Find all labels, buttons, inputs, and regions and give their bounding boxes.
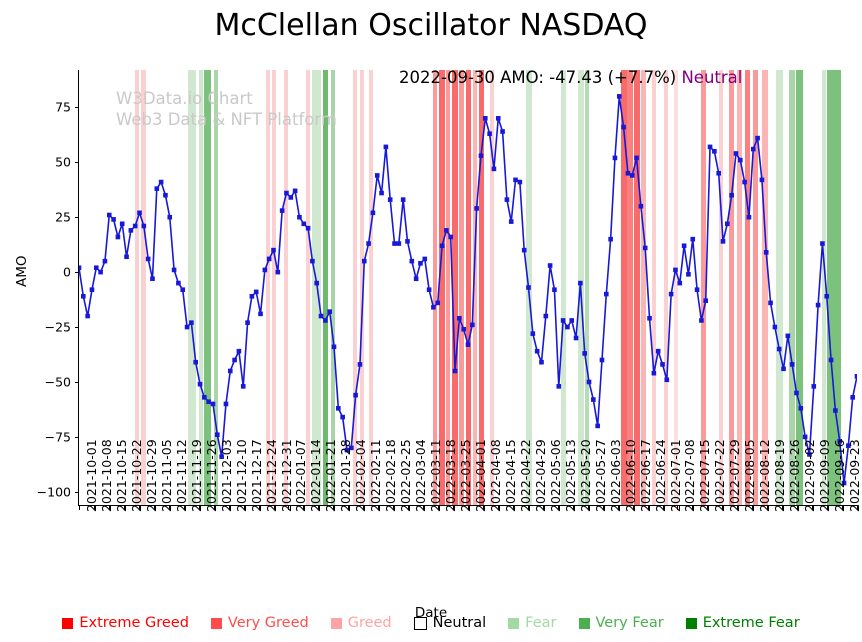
x-tick-label: 2022-04-01 <box>473 439 488 512</box>
amo-data-point <box>725 221 730 226</box>
amo-data-point <box>422 257 427 262</box>
x-tick-mark <box>513 505 514 510</box>
amo-data-point <box>410 259 415 264</box>
amo-data-point <box>695 287 700 292</box>
amo-data-point <box>652 371 657 376</box>
amo-data-point <box>574 336 579 341</box>
amo-data-point <box>699 318 704 323</box>
amo-data-point <box>595 424 600 429</box>
amo-data-point <box>492 167 497 172</box>
amo-data-point <box>263 268 268 273</box>
amo-data-point <box>336 406 341 411</box>
amo-data-point <box>172 268 177 273</box>
amo-data-point <box>479 153 484 158</box>
amo-data-point <box>561 318 566 323</box>
amo-data-point <box>634 156 639 161</box>
x-tick-label: 2022-03-11 <box>428 439 443 512</box>
x-tick-mark <box>393 505 394 510</box>
x-tick-mark <box>827 505 828 510</box>
amo-data-point <box>781 366 786 371</box>
x-tick-mark <box>543 505 544 510</box>
amo-data-point <box>142 224 147 229</box>
chart-container: McClellan Oscillator NASDAQ AMO W3Data.i… <box>0 0 862 642</box>
x-tick-label: 2022-02-25 <box>398 439 413 512</box>
amo-data-point <box>427 287 432 292</box>
x-tick-mark <box>752 505 753 510</box>
amo-data-point <box>224 402 229 407</box>
x-tick-label: 2022-04-29 <box>533 439 548 512</box>
amo-data-point <box>375 173 380 178</box>
x-tick-label: 2022-04-15 <box>503 439 518 512</box>
amo-data-point <box>107 213 112 218</box>
annotation-text: 2022-09-30 AMO: -47.43 (+7.7%) <box>399 68 676 87</box>
x-tick-label: 2022-09-16 <box>832 439 847 512</box>
x-tick-mark <box>229 505 230 510</box>
x-tick-mark <box>468 505 469 510</box>
x-tick-mark <box>274 505 275 510</box>
x-tick-label: 2021-10-22 <box>129 439 144 512</box>
amo-data-point <box>483 116 488 121</box>
amo-data-point <box>163 193 168 198</box>
amo-data-point <box>297 215 302 220</box>
x-tick-mark <box>139 505 140 510</box>
amo-data-point <box>206 399 211 404</box>
amo-data-point <box>85 314 90 319</box>
x-tick-label: 2021-10-01 <box>84 439 99 512</box>
legend-swatch <box>62 618 73 629</box>
x-tick-mark <box>663 505 664 510</box>
legend-label: Greed <box>348 616 392 631</box>
amo-data-point <box>327 309 332 314</box>
chart-title: McClellan Oscillator NASDAQ <box>0 8 862 43</box>
amo-data-point <box>833 408 838 413</box>
amo-data-point <box>189 320 194 325</box>
amo-data-point <box>613 156 618 161</box>
y-tick-mark <box>75 382 80 383</box>
x-tick-label: 2022-08-05 <box>742 439 757 512</box>
amo-data-point <box>198 382 203 387</box>
amo-data-point <box>401 197 406 202</box>
x-tick-label: 2022-04-08 <box>488 439 503 512</box>
x-tick-label: 2021-10-15 <box>114 439 129 512</box>
x-tick-mark <box>438 505 439 510</box>
amo-data-point <box>366 241 371 246</box>
amo-data-point <box>457 316 462 321</box>
amo-data-point <box>94 265 99 270</box>
x-tick-label: 2022-07-08 <box>682 439 697 512</box>
amo-data-point <box>764 250 769 255</box>
amo-data-point <box>665 377 670 382</box>
amo-data-point <box>677 281 682 286</box>
x-tick-mark <box>184 505 185 510</box>
x-tick-mark <box>408 505 409 510</box>
amo-data-point <box>435 301 440 306</box>
amo-data-point <box>824 294 829 299</box>
amo-data-point <box>518 180 523 185</box>
x-tick-mark <box>318 505 319 510</box>
legend-item[interactable]: Extreme Fear <box>686 616 800 631</box>
y-tick-mark <box>75 272 80 273</box>
amo-data-point <box>116 235 121 240</box>
amo-data-point <box>388 197 393 202</box>
amo-data-point <box>405 239 410 244</box>
amo-data-point <box>431 305 436 310</box>
legend-swatch <box>331 618 342 629</box>
x-tick-label: 2021-12-10 <box>234 439 249 512</box>
x-tick-label: 2022-07-29 <box>727 439 742 512</box>
amo-data-point <box>850 395 855 400</box>
x-tick-label: 2022-06-03 <box>608 439 623 512</box>
amo-data-point <box>185 325 190 330</box>
x-tick-label: 2022-06-17 <box>638 439 653 512</box>
amo-data-point <box>137 211 142 216</box>
amo-data-point <box>470 323 475 328</box>
amo-data-point <box>608 237 613 242</box>
amo-data-point <box>500 129 505 134</box>
amo-data-point <box>738 158 743 163</box>
amo-data-point <box>509 219 514 224</box>
amo-data-point <box>656 349 661 354</box>
amo-data-point <box>276 270 281 275</box>
legend-item[interactable]: Greed <box>331 616 392 631</box>
amo-data-point <box>288 195 293 200</box>
y-tick-label: −25 <box>45 320 71 335</box>
legend: Extreme GreedVery GreedGreedNeutralFearV… <box>0 616 862 631</box>
amo-data-point <box>267 257 272 262</box>
amo-data-point <box>250 294 255 299</box>
amo-data-point <box>548 263 553 268</box>
amo-data-point <box>682 243 687 248</box>
legend-label: Neutral <box>433 616 487 631</box>
x-tick-mark <box>483 505 484 510</box>
amo-data-point <box>535 349 540 354</box>
amo-data-point <box>721 239 726 244</box>
current-value-annotation: 2022-09-30 AMO: -47.43 (+7.7%) Neutral <box>399 68 742 87</box>
x-tick-label: 2021-11-26 <box>204 439 219 512</box>
legend-swatch <box>579 618 590 629</box>
amo-data-point <box>241 384 246 389</box>
x-tick-label: 2022-03-18 <box>443 439 458 512</box>
amo-data-point <box>626 171 631 176</box>
amo-data-point <box>448 235 453 240</box>
amo-data-point <box>734 151 739 156</box>
amo-data-point <box>690 237 695 242</box>
amo-data-point <box>310 259 315 264</box>
x-tick-label: 2022-01-07 <box>293 439 308 512</box>
x-tick-mark <box>363 505 364 510</box>
x-tick-label: 2022-07-01 <box>668 439 683 512</box>
x-tick-mark <box>782 505 783 510</box>
x-tick-mark <box>558 505 559 510</box>
amo-data-point <box>747 215 752 220</box>
amo-data-point <box>111 217 116 222</box>
x-tick-label: 2022-06-10 <box>623 439 638 512</box>
amo-data-point <box>444 228 449 233</box>
amo-data-point <box>716 171 721 176</box>
amo-data-point <box>773 325 778 330</box>
amo-data-point <box>418 261 423 266</box>
amo-data-point <box>358 362 363 367</box>
legend-item[interactable]: Neutral <box>414 616 487 631</box>
legend-swatch <box>508 618 519 629</box>
y-tick-mark <box>75 162 80 163</box>
amo-data-point <box>466 342 471 347</box>
amo-data-point <box>332 345 337 350</box>
y-tick-label: 50 <box>55 155 71 170</box>
amo-data-point <box>669 292 674 297</box>
amo-data-point <box>777 347 782 352</box>
y-tick-label: −100 <box>37 484 71 499</box>
amo-data-point <box>193 360 198 365</box>
x-tick-label: 2021-11-19 <box>189 439 204 512</box>
amo-data-point <box>176 281 181 286</box>
y-tick-mark <box>75 327 80 328</box>
amo-data-point <box>397 241 402 246</box>
amo-data-point <box>811 384 816 389</box>
legend-item[interactable]: Very Fear <box>579 616 664 631</box>
x-tick-mark <box>528 505 529 510</box>
amo-data-point <box>129 228 134 233</box>
x-tick-mark <box>677 505 678 510</box>
x-tick-mark <box>288 505 289 510</box>
amo-data-point <box>79 265 81 270</box>
legend-label: Extreme Fear <box>703 616 800 631</box>
x-tick-mark <box>722 505 723 510</box>
amo-data-point <box>284 191 289 196</box>
amo-data-point <box>591 397 596 402</box>
amo-data-point <box>544 314 549 319</box>
x-tick-mark <box>154 505 155 510</box>
x-tick-label: 2022-08-26 <box>787 439 802 512</box>
y-tick-label: 0 <box>63 265 71 280</box>
x-tick-mark <box>498 505 499 510</box>
x-tick-mark <box>79 505 80 510</box>
x-tick-label: 2022-06-24 <box>653 439 668 512</box>
x-tick-mark <box>94 505 95 510</box>
amo-data-point <box>319 314 324 319</box>
x-tick-mark <box>169 505 170 510</box>
amo-data-point <box>639 204 644 209</box>
x-tick-mark <box>423 505 424 510</box>
amo-data-point <box>660 362 665 367</box>
x-tick-mark <box>737 505 738 510</box>
amo-data-point <box>461 327 466 332</box>
y-tick-label: 75 <box>55 100 71 115</box>
amo-data-point <box>237 349 242 354</box>
amo-data-point <box>790 362 795 367</box>
amo-data-point <box>340 415 345 420</box>
y-tick-mark <box>75 217 80 218</box>
amo-data-point <box>552 287 557 292</box>
x-tick-mark <box>214 505 215 510</box>
x-tick-mark <box>648 505 649 510</box>
x-tick-mark <box>348 505 349 510</box>
amo-data-point <box>855 374 857 379</box>
x-tick-label: 2022-03-25 <box>458 439 473 512</box>
amo-data-point <box>526 285 531 290</box>
x-tick-label: 2022-01-21 <box>323 439 338 512</box>
x-tick-label: 2022-01-14 <box>308 439 323 512</box>
amo-data-point <box>103 259 108 264</box>
amo-data-point <box>496 116 501 121</box>
amo-data-point <box>712 149 717 154</box>
amo-data-point <box>120 221 125 226</box>
amo-data-point <box>180 287 185 292</box>
amo-data-point <box>81 294 86 299</box>
amo-data-point <box>673 268 678 273</box>
amo-data-point <box>124 254 129 259</box>
amo-data-point <box>245 320 250 325</box>
amo-data-point <box>301 221 306 226</box>
x-tick-label: 2021-10-29 <box>144 439 159 512</box>
legend-label: Fear <box>525 616 556 631</box>
x-tick-mark <box>124 505 125 510</box>
legend-label: Very Fear <box>596 616 664 631</box>
x-tick-mark <box>259 505 260 510</box>
amo-data-point <box>647 316 652 321</box>
x-tick-label: 2022-02-04 <box>353 439 368 512</box>
amo-data-point <box>353 393 358 398</box>
x-tick-mark <box>797 505 798 510</box>
amo-data-point <box>232 358 237 363</box>
legend-item[interactable]: Fear <box>508 616 556 631</box>
plot-area: W3Data.io Chart Web3 Data & NFT Platform… <box>78 70 857 506</box>
x-tick-label: 2022-07-15 <box>697 439 712 512</box>
x-tick-label: 2022-01-28 <box>338 439 353 512</box>
y-tick-mark <box>75 107 80 108</box>
x-tick-label: 2021-12-17 <box>249 439 264 512</box>
y-axis-label: AMO <box>14 255 30 287</box>
amo-data-point <box>565 325 570 330</box>
amo-data-point <box>556 384 561 389</box>
amo-data-point <box>786 334 791 339</box>
x-tick-mark <box>692 505 693 510</box>
amo-data-point <box>569 318 574 323</box>
legend-swatch <box>414 617 427 630</box>
x-tick-mark <box>707 505 708 510</box>
legend-item[interactable]: Very Greed <box>211 616 309 631</box>
x-tick-mark <box>244 505 245 510</box>
amo-data-point <box>453 369 458 374</box>
x-tick-mark <box>199 505 200 510</box>
amo-data-point <box>167 215 172 220</box>
x-tick-mark <box>603 505 604 510</box>
amo-data-point <box>293 189 298 194</box>
amo-data-point <box>582 351 587 356</box>
amo-data-point <box>90 287 95 292</box>
amo-data-point <box>384 145 389 150</box>
x-tick-mark <box>588 505 589 510</box>
x-tick-mark <box>857 505 858 510</box>
amo-data-point <box>371 211 376 216</box>
x-tick-label: 2022-02-11 <box>368 439 383 512</box>
amo-data-point <box>643 246 648 251</box>
amo-data-point <box>794 391 799 396</box>
x-tick-label: 2021-10-08 <box>99 439 114 512</box>
amo-data-point <box>816 303 821 308</box>
amo-data-point <box>708 145 713 150</box>
amo-data-point <box>751 147 756 152</box>
amo-data-point <box>505 197 510 202</box>
x-tick-mark <box>633 505 634 510</box>
amo-data-point <box>314 281 319 286</box>
amo-data-point <box>686 272 691 277</box>
amo-data-point <box>587 380 592 385</box>
amo-data-point <box>414 276 419 281</box>
amo-data-point <box>98 270 103 275</box>
legend-label: Extreme Greed <box>79 616 189 631</box>
x-tick-label: 2021-11-05 <box>159 439 174 512</box>
amo-data-point <box>150 276 155 281</box>
x-tick-label: 2022-07-22 <box>712 439 727 512</box>
amo-data-point <box>211 402 216 407</box>
amo-data-point <box>202 395 207 400</box>
amo-data-point <box>228 369 233 374</box>
annotation-status-badge: Neutral <box>681 68 742 87</box>
x-tick-mark <box>453 505 454 510</box>
x-tick-label: 2021-11-12 <box>174 439 189 512</box>
amo-data-point <box>146 257 151 262</box>
legend-swatch <box>211 618 222 629</box>
x-tick-mark <box>618 505 619 510</box>
amo-data-point <box>280 208 285 213</box>
amo-data-point <box>742 180 747 185</box>
x-tick-label: 2021-12-24 <box>264 439 279 512</box>
x-tick-label: 2022-08-12 <box>757 439 772 512</box>
x-tick-label: 2022-08-19 <box>772 439 787 512</box>
amo-line <box>79 96 857 483</box>
amo-data-point <box>531 331 536 336</box>
amo-data-point <box>513 178 518 183</box>
amo-data-point <box>306 226 311 231</box>
amo-data-point <box>522 248 527 253</box>
amo-data-point <box>362 259 367 264</box>
amo-data-point <box>621 125 626 130</box>
legend-label: Very Greed <box>228 616 309 631</box>
x-tick-label: 2022-09-02 <box>802 439 817 512</box>
x-tick-label: 2022-05-20 <box>578 439 593 512</box>
amo-data-point <box>829 358 834 363</box>
x-tick-label: 2021-12-03 <box>219 439 234 512</box>
y-tick-label: −75 <box>45 429 71 444</box>
amo-data-point <box>799 406 804 411</box>
amo-data-point <box>617 94 622 99</box>
amo-data-point <box>578 281 583 286</box>
amo-data-point <box>271 248 276 253</box>
x-tick-label: 2021-12-31 <box>279 439 294 512</box>
amo-data-point <box>440 243 445 248</box>
amo-data-point <box>155 186 160 191</box>
amo-data-point <box>323 318 328 323</box>
y-tick-mark <box>75 492 80 493</box>
amo-data-point <box>379 191 384 196</box>
amo-data-point <box>254 290 259 295</box>
x-tick-mark <box>303 505 304 510</box>
x-tick-label: 2022-05-06 <box>548 439 563 512</box>
x-tick-label: 2022-09-23 <box>847 439 862 512</box>
amo-data-point <box>604 292 609 297</box>
x-tick-label: 2022-02-18 <box>383 439 398 512</box>
amo-data-point <box>703 298 708 303</box>
amo-data-point <box>258 312 263 317</box>
legend-item[interactable]: Extreme Greed <box>62 616 189 631</box>
x-tick-mark <box>767 505 768 510</box>
x-tick-mark <box>333 505 334 510</box>
amo-data-point <box>539 360 544 365</box>
x-tick-mark <box>109 505 110 510</box>
amo-data-point <box>133 224 138 229</box>
x-tick-mark <box>378 505 379 510</box>
